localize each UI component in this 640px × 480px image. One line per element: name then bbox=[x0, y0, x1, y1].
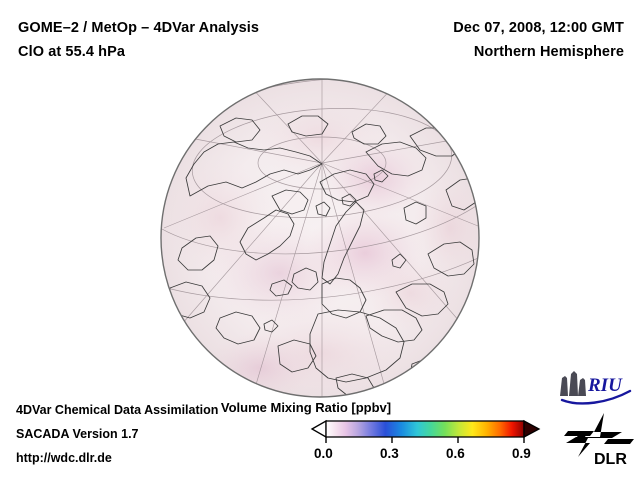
colorbar-gradient bbox=[326, 421, 524, 437]
colorbar bbox=[310, 419, 542, 443]
riu-wordmark: RIU bbox=[587, 375, 623, 396]
riu-towers-icon bbox=[560, 371, 586, 396]
riu-logo: RIU bbox=[556, 370, 632, 406]
dlr-logo: DLR bbox=[564, 412, 636, 468]
colorbar-tick-label-3: 0.9 bbox=[512, 446, 531, 461]
page-title-line2: ClO at 55.4 hPa bbox=[18, 44, 125, 60]
page-title-line1: GOME–2 / MetOp – 4DVar Analysis bbox=[18, 20, 259, 36]
region-label: Northern Hemisphere bbox=[474, 44, 624, 60]
colorbar-tick-label-0: 0.0 bbox=[314, 446, 333, 461]
dlr-wordmark: DLR bbox=[594, 451, 627, 468]
colorbar-under-arrow bbox=[312, 421, 326, 437]
colorbar-title: Volume Mixing Ratio [ppbv] bbox=[0, 400, 640, 415]
colorbar-tick-label-2: 0.6 bbox=[446, 446, 465, 461]
colorbar-over-arrow bbox=[524, 421, 539, 437]
globe-map bbox=[160, 78, 480, 398]
timestamp-label: Dec 07, 2008, 12:00 GMT bbox=[453, 20, 624, 36]
footer-line-url: http://wdc.dlr.de bbox=[16, 451, 112, 465]
footer-line-version: SACADA Version 1.7 bbox=[16, 427, 139, 441]
colorbar-ticks bbox=[326, 437, 524, 443]
colorbar-tick-label-1: 0.3 bbox=[380, 446, 399, 461]
colorbar-title-text: Volume Mixing Ratio [ppbv] bbox=[221, 400, 391, 415]
